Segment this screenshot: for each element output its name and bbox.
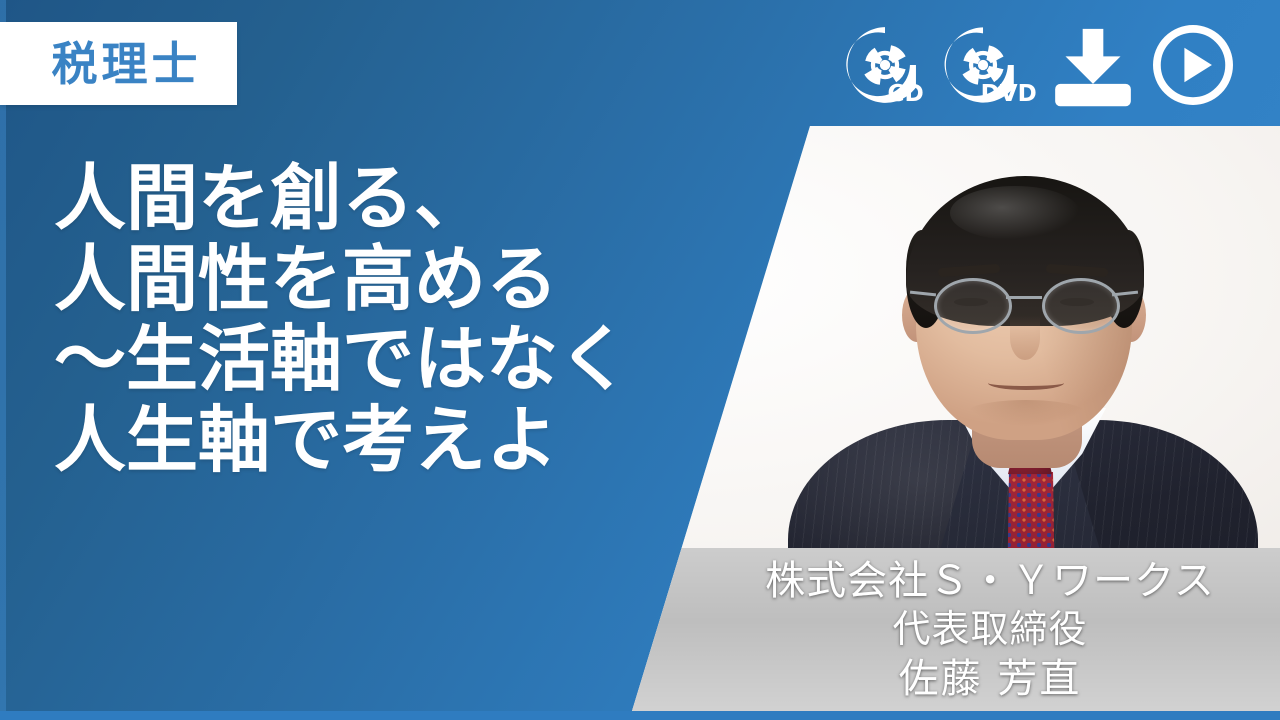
eyeglasses-bridge [1006,296,1042,299]
topic-badge-label: 税理士 [36,41,202,87]
dvd-icon-label: DVD [981,81,1036,107]
mouth [988,376,1064,390]
dvd-icon: DVD [942,22,1036,108]
hair-highlight [950,186,1080,240]
nose [1010,316,1040,360]
left-edge-accent [0,0,6,720]
cd-icon: CD [842,22,928,108]
headline-line-2: 人間性を高める [54,239,714,320]
headline-line-1: 人間を創る、 [54,158,714,239]
slide-canvas: 税理士 人間を創る、 人間性を高める 〜生活軸ではなく 人生軸で考えよ CD [0,0,1280,720]
bottom-blue-strip [0,711,1280,720]
topic-badge: 税理士 [0,22,237,105]
speaker-company: 株式会社Ｓ・Ｙワークス [700,556,1280,606]
headline-line-4: 人生軸で考えよ [54,400,714,481]
play-icon [1150,22,1236,108]
cd-icon-label: CD [887,80,923,107]
eyeglasses-lens-right [1042,278,1120,334]
headline: 人間を創る、 人間性を高める 〜生活軸ではなく 人生軸で考えよ [54,158,714,481]
media-format-icons: CD DVD [842,22,1234,108]
eyeglasses-lens-left [934,278,1012,334]
download-icon [1050,22,1136,108]
headline-line-3: 〜生活軸ではなく [54,319,714,400]
chin-shadow [966,400,1086,426]
speaker-name: 佐藤 芳直 [700,654,1280,704]
speaker-caption: 株式会社Ｓ・Ｙワークス 代表取締役 佐藤 芳直 [700,556,1280,705]
speaker-role: 代表取締役 [700,606,1280,654]
